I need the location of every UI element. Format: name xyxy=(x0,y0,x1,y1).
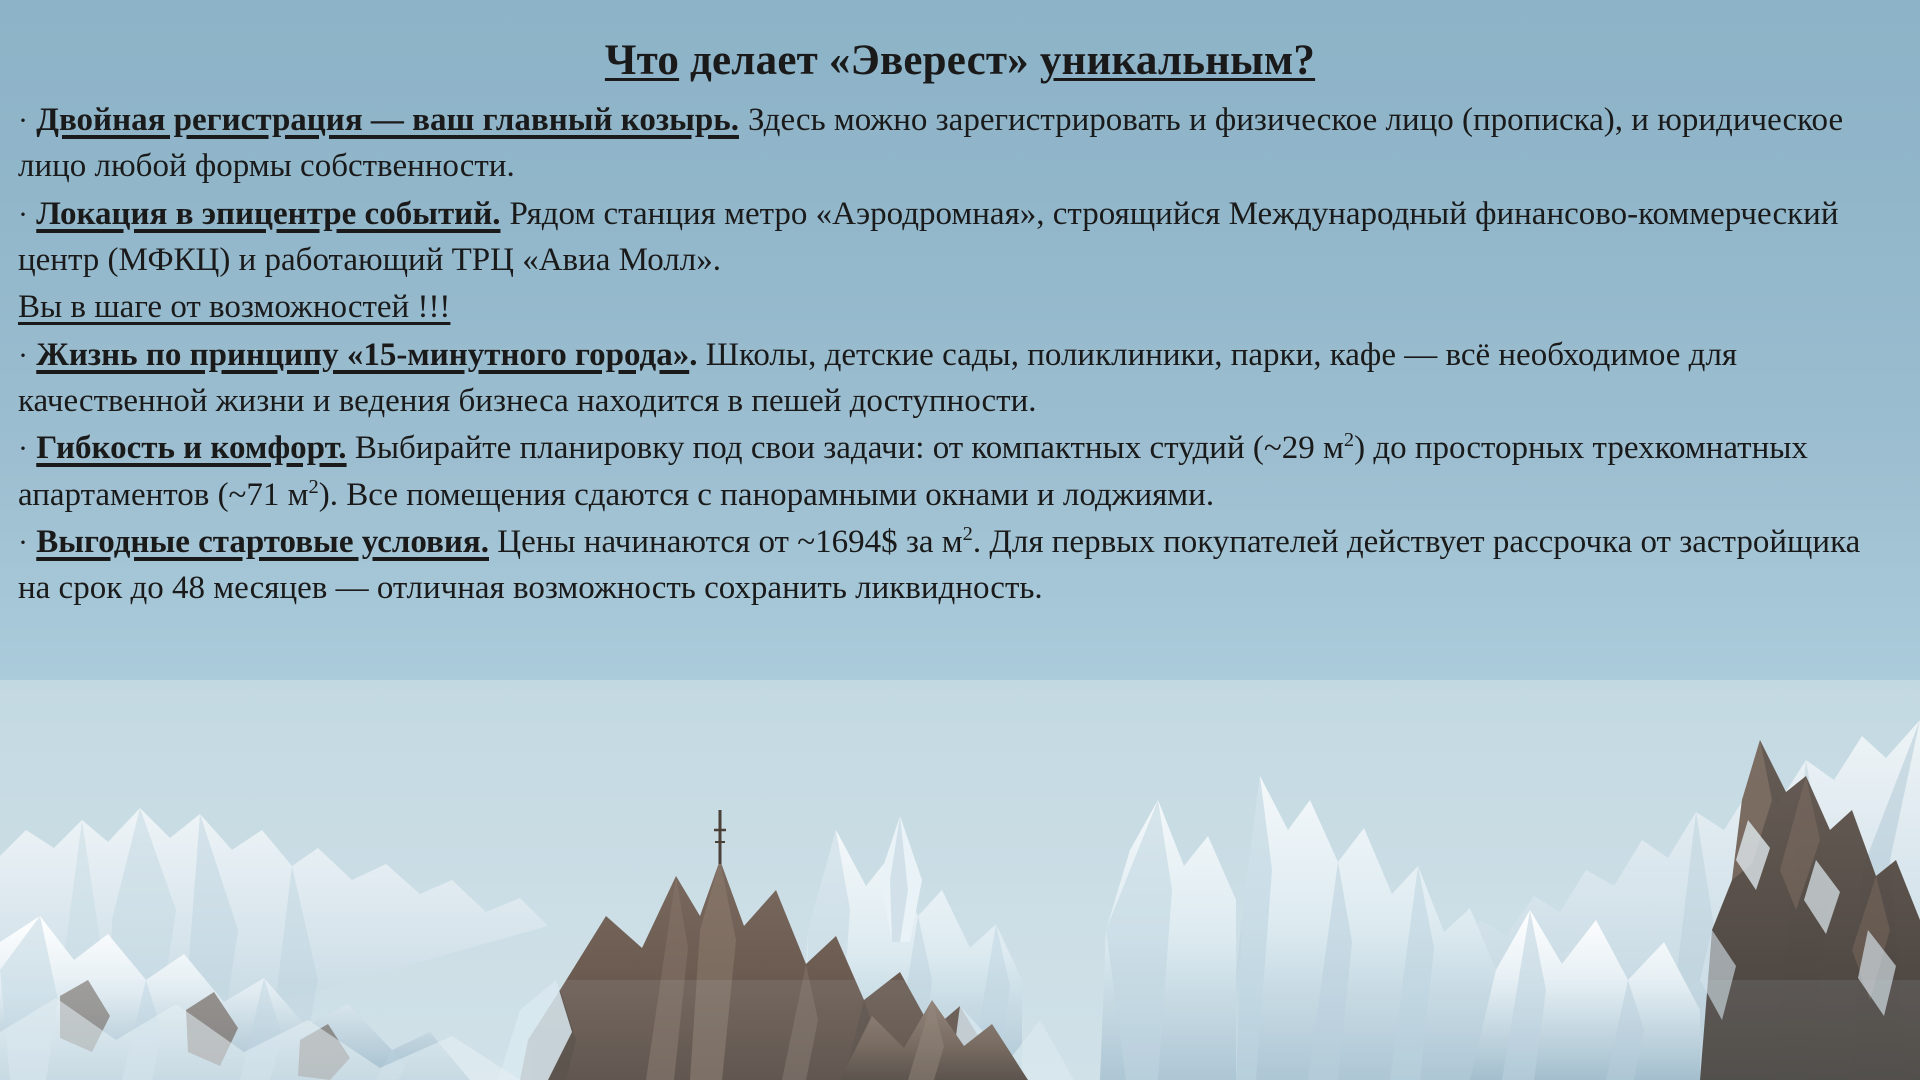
bullet-marker-icon: · xyxy=(18,526,28,559)
bullet-list: · Двойная регистрация — ваш главный козы… xyxy=(0,97,1920,611)
bullet-marker-icon: · xyxy=(18,198,28,231)
bullet-lead-dual-registration: Двойная регистрация — ваш главный козырь… xyxy=(36,102,739,138)
snowy-mountain-range-photo xyxy=(0,680,1920,1080)
superscript-square-1: 2 xyxy=(1344,429,1354,451)
bullet-lead-flexibility-comfort: Гибкость и комфорт. xyxy=(36,430,346,466)
bullet-item-starting-conditions: · Выгодные стартовые условия. Цены начин… xyxy=(18,519,1896,611)
bullet-lead-fifteen-minute-city: Жизнь по принципу «15-минутного города» xyxy=(36,337,689,373)
superscript-square-3: 2 xyxy=(963,523,973,545)
presentation-slide: Что делает «Эверест» уникальным? · Двойн… xyxy=(0,0,1920,1080)
bullet-marker-icon: · xyxy=(18,339,28,372)
page-title-part-2: делает «Эверест» xyxy=(679,37,1040,84)
page-title-part-3: уникальным? xyxy=(1040,37,1315,84)
bullet-item-flexibility-comfort: · Гибкость и комфорт. Выбирайте планиров… xyxy=(18,425,1896,517)
page-title: Что делает «Эверест» уникальным? xyxy=(0,38,1920,83)
superscript-square-2: 2 xyxy=(309,476,319,498)
bullet-body-starting-a: Цены начинаются от ~1694$ за м xyxy=(497,524,962,560)
slide-text-content: Что делает «Эверест» уникальным? · Двойн… xyxy=(0,0,1920,612)
highlight-line: Вы в шаге от возможностей !!! xyxy=(18,284,1896,330)
bullet-item-dual-registration: · Двойная регистрация — ваш главный козы… xyxy=(18,97,1896,189)
page-title-part-1: Что xyxy=(605,37,679,84)
bullet-lead-tail-fifteen-minute-city: . xyxy=(689,337,697,373)
bullet-lead-starting-conditions: Выгодные стартовые условия. xyxy=(36,524,489,560)
bullet-item-location: · Локация в эпицентре событий.Рядом стан… xyxy=(18,191,1896,283)
bullet-marker-icon: · xyxy=(18,104,28,137)
highlight-line-text: Вы в шаге от возможностей !!! xyxy=(18,289,450,325)
bullet-marker-icon: · xyxy=(18,432,28,465)
bullet-lead-location: Локация в эпицентре событий. xyxy=(36,196,500,232)
bullet-item-fifteen-minute-city: · Жизнь по принципу «15-минутного города… xyxy=(18,332,1896,424)
bullet-body-flexibility-a: Выбирайте планировку под свои задачи: от… xyxy=(355,430,1344,466)
bullet-body-flexibility-c: ). Все помещения сдаются с панорамными о… xyxy=(319,477,1214,513)
